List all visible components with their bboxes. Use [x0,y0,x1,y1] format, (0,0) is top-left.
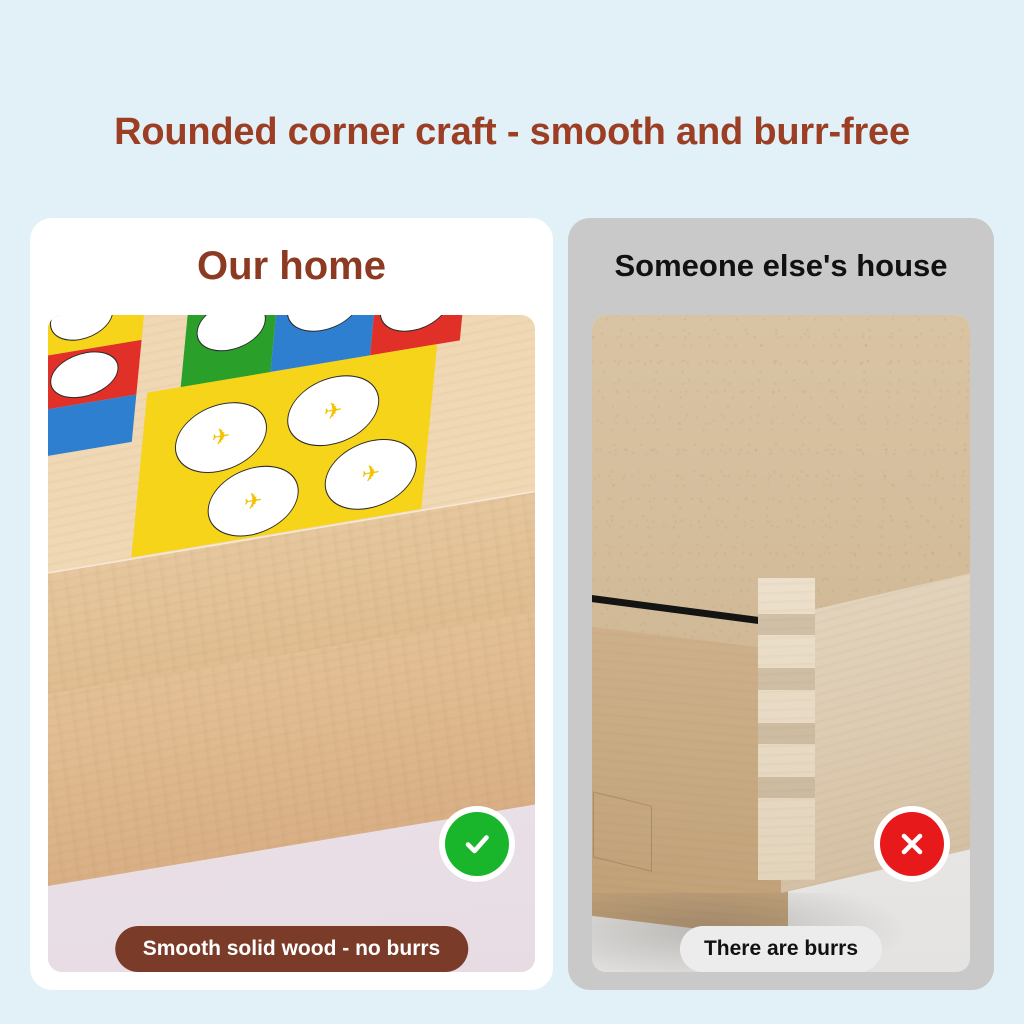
comparison-card-someone-else: Someone else's house [568,218,994,990]
airplane-icon: ✈ [243,488,263,514]
airplane-icon: ✈ [361,461,381,487]
right-caption-pill: There are burrs [680,926,882,972]
page-title: Rounded corner craft - smooth and burr-f… [0,110,1024,154]
left-caption-pill: Smooth solid wood - no burrs [115,926,468,972]
comparison-card-our-home: Our home [30,218,553,990]
airplane-icon: ✈ [323,398,343,424]
right-product-photo [592,315,970,972]
right-card-header: Someone else's house [568,218,994,314]
check-circle-icon [445,812,509,876]
comparison-infographic: Rounded corner craft - smooth and burr-f… [0,0,1024,1024]
x-circle-icon [880,812,944,876]
joint-line [758,723,815,744]
airplane-icon: ✈ [211,424,231,450]
recessed-panel-outline [593,791,652,871]
right-caption-text: There are burrs [704,937,858,961]
corner-finger-joint [758,578,815,880]
left-heading: Our home [197,244,386,289]
left-product-photo: ✈ ✈ ✈ ✈ ✈ ✈ [48,315,535,972]
left-caption-text: Smooth solid wood - no burrs [143,937,440,961]
left-card-header: Our home [30,218,553,314]
joint-line [758,777,815,798]
right-heading: Someone else's house [615,248,948,284]
joint-line [758,668,815,689]
joint-line [758,614,815,635]
